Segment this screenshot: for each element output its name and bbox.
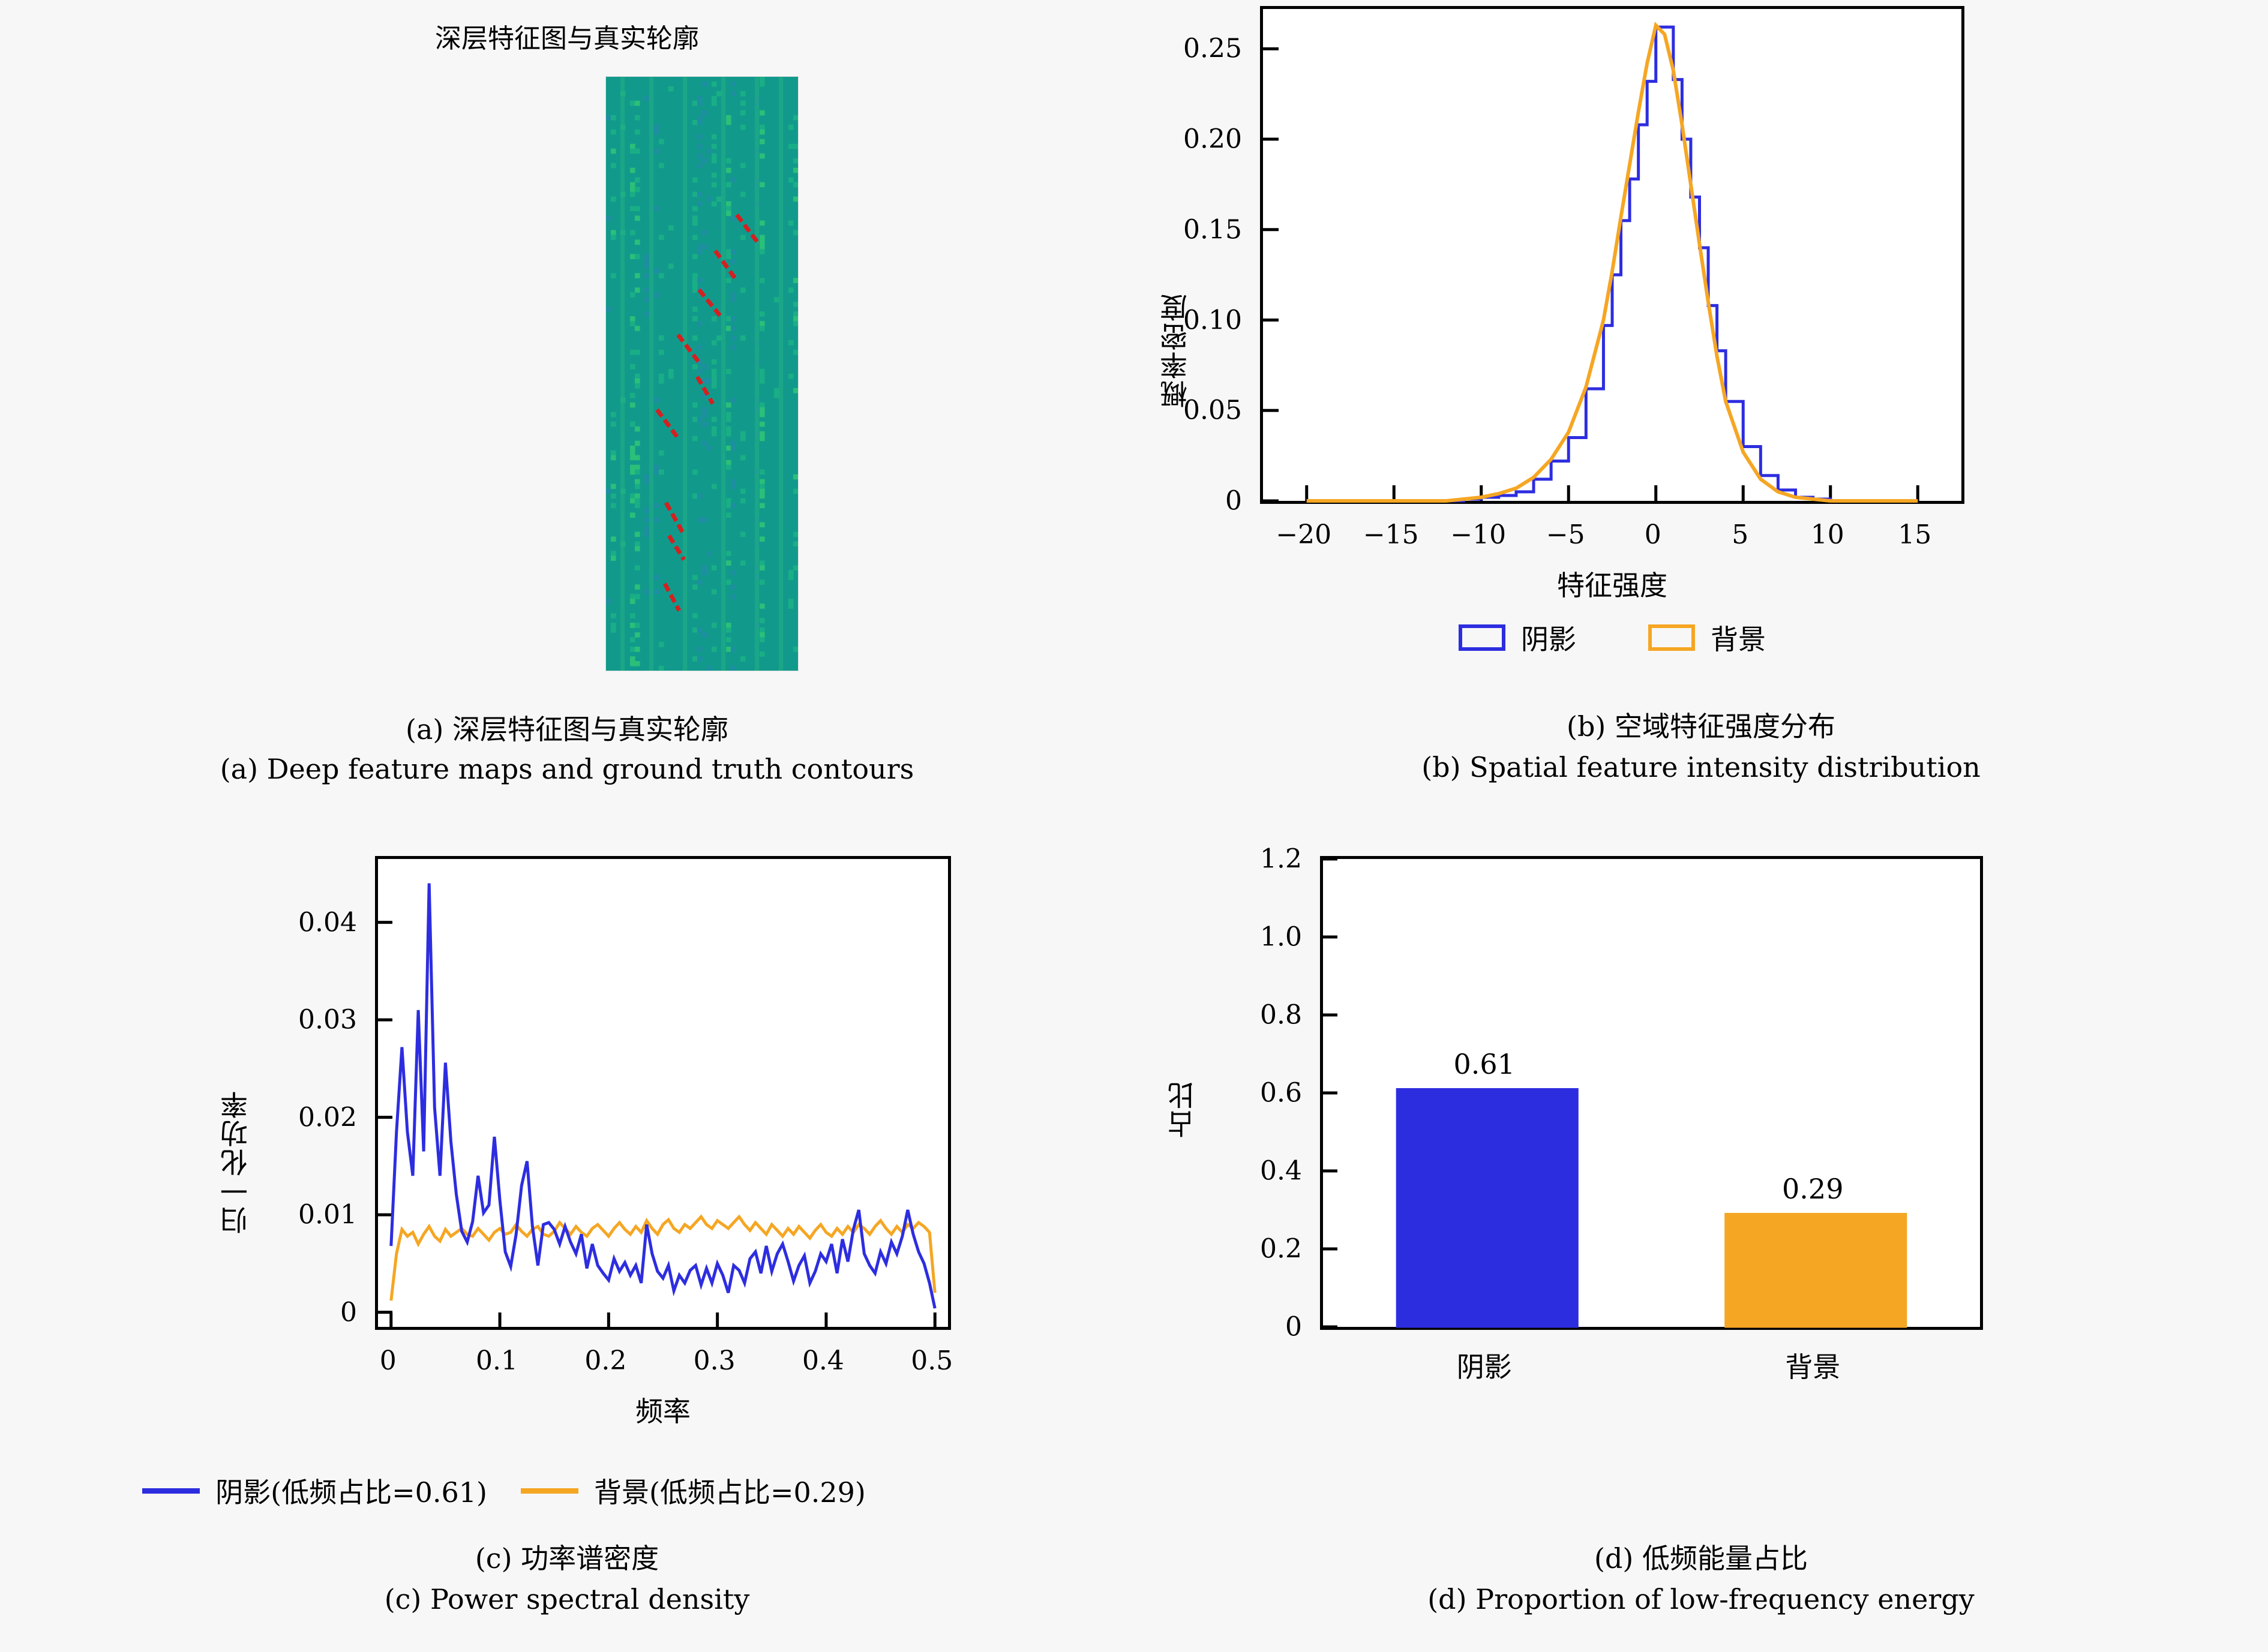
bar-value-label: 0.29 (1782, 1173, 1843, 1205)
ytick-label: 0.6 (1194, 1078, 1302, 1109)
xtick-label: 0.4 (763, 1345, 883, 1376)
xtick-label: 15 (1855, 519, 1975, 550)
panel-c-legend: 阴影(低频占比=0.61) 背景(低频占比=0.29) (36, 1471, 972, 1510)
legend-item-shadow-psd[interactable]: 阴影(低频占比=0.61) (142, 1471, 487, 1510)
ytick-label: 0.10 (1134, 305, 1242, 335)
panel-d-caption-en: (d) Proportion of low-frequency energy (1134, 1583, 2268, 1615)
ytick-label: 0.04 (249, 907, 357, 938)
ytick-label: 0 (249, 1297, 357, 1327)
legend-item-background[interactable]: 背景 (1648, 618, 1766, 657)
feature-map-svg (606, 77, 798, 671)
panel-b-xlabel: 特征强度 (1260, 564, 1964, 603)
panel-c-caption-en: (c) Power spectral density (0, 1583, 1134, 1615)
panel-c-xlabel: 频率 (375, 1390, 951, 1429)
panel-b-axes (1260, 6, 1964, 504)
panel-b: 概率密度 00.050.100.150.200.25 −20−15−10−505… (1134, 0, 2268, 826)
panel-a-caption-cn: (a) 深层特征图与真实轮廓 (0, 708, 1134, 747)
ytick-label: 0.03 (249, 1005, 357, 1035)
legend-swatch-shadow (1459, 624, 1505, 651)
ytick-label: 0 (1194, 1312, 1302, 1342)
legend-label-shadow: 阴影 (1521, 618, 1576, 657)
bar-category-label: 背景 (1785, 1345, 1840, 1385)
xtick-label: 0 (328, 1345, 448, 1376)
panel-b-caption-cn: (b) 空域特征强度分布 (1134, 705, 2268, 744)
legend-line-background (521, 1488, 578, 1494)
ytick-label: 0.15 (1134, 214, 1242, 245)
panel-d-plot (1323, 859, 1980, 1327)
ytick-label: 0.25 (1134, 34, 1242, 64)
ytick-label: 0.01 (249, 1200, 357, 1230)
xtick-label: 0.1 (437, 1345, 557, 1376)
deep-feature-map-image (606, 77, 798, 671)
panel-c-caption-cn: (c) 功率谱密度 (0, 1537, 1134, 1576)
ytick-label: 1.0 (1194, 922, 1302, 953)
legend-swatch-background (1648, 624, 1695, 651)
panel-c-axes (375, 856, 951, 1330)
panel-a-title: 深层特征图与真实轮廓 (0, 17, 1134, 55)
bar-value-label: 0.61 (1454, 1048, 1515, 1080)
bar-category-label: 阴影 (1457, 1345, 1512, 1385)
ytick-label: 0.05 (1134, 395, 1242, 426)
legend-line-shadow (142, 1488, 200, 1494)
ytick-label: 1.2 (1194, 844, 1302, 875)
panel-b-plot (1263, 9, 1961, 501)
legend-label-background: 背景 (1711, 618, 1766, 657)
panel-c-plot (378, 859, 948, 1327)
legend-label-background-psd: 背景(低频占比=0.29) (594, 1471, 866, 1510)
panel-a: 深层特征图与真实轮廓 (a) 深层特征图与真实轮廓 (a) Deep featu… (0, 0, 1134, 826)
ytick-label: 0.2 (1194, 1234, 1302, 1264)
legend-label-shadow-psd: 阴影(低频占比=0.61) (215, 1471, 487, 1510)
ytick-label: 0.4 (1194, 1156, 1302, 1187)
ytick-label: 0.02 (249, 1102, 357, 1133)
figure-root: 深层特征图与真实轮廓 (a) 深层特征图与真实轮廓 (a) Deep featu… (0, 0, 2268, 1652)
panel-c: 归一化功率 00.010.020.030.04 00.10.20.30.40.5… (0, 826, 1134, 1652)
xtick-label: 0.3 (655, 1345, 775, 1376)
panel-b-caption-en: (b) Spatial feature intensity distributi… (1134, 751, 2268, 783)
ytick-label: 0.20 (1134, 124, 1242, 155)
legend-item-shadow[interactable]: 阴影 (1459, 618, 1576, 657)
panel-d: 占比 00.20.40.60.81.01.2 阴影背景 0.610.29 (d)… (1134, 826, 2268, 1652)
legend-item-background-psd[interactable]: 背景(低频占比=0.29) (521, 1471, 866, 1510)
ytick-label: 0 (1134, 486, 1242, 516)
panel-d-caption-cn: (d) 低频能量占比 (1134, 1537, 2268, 1576)
ytick-label: 0.8 (1194, 1000, 1302, 1031)
panel-b-legend: 阴影 背景 (1260, 618, 1964, 657)
xtick-label: 0.5 (872, 1345, 992, 1376)
panel-a-caption-en: (a) Deep feature maps and ground truth c… (0, 753, 1134, 785)
xtick-label: 0.2 (545, 1345, 665, 1376)
panel-d-axes (1320, 856, 1983, 1330)
